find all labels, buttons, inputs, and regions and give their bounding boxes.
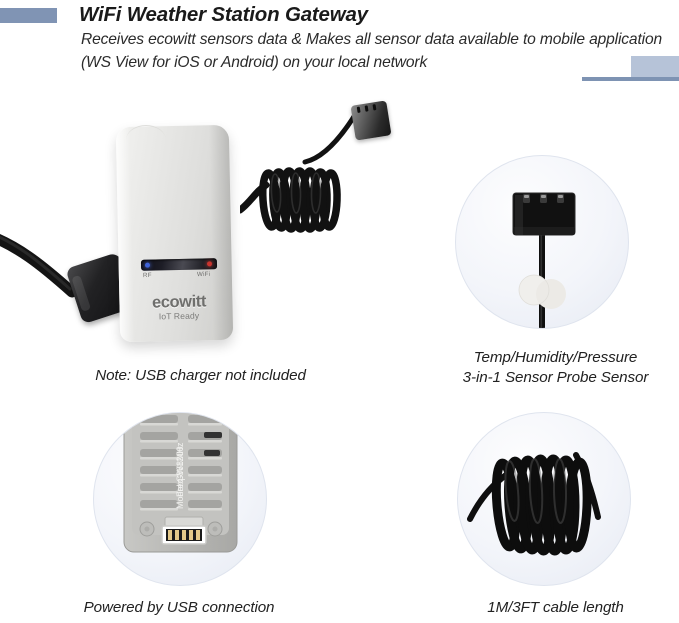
caption-line-2: 3-in-1 Sensor Probe Sensor (432, 368, 679, 388)
panel-usb-power-circle: Model:GW1200 Freq:868MHz (93, 412, 267, 586)
caption-line-1: Temp/Humidity/Pressure (432, 348, 679, 368)
panel-cable-length-circle (457, 412, 631, 586)
panel-sensor-probe-caption: Temp/Humidity/Pressure 3-in-1 Sensor Pro… (432, 348, 679, 387)
coiled-cable-illustration (458, 413, 630, 585)
header-accent-bar-left (0, 8, 57, 23)
page-subtitle: Receives ecowitt sensors data & Makes al… (81, 28, 666, 74)
hero-gateway-photo: RF WiFi ecowitt IoT Ready (0, 95, 430, 365)
panel-cable-length-caption: 1M/3FT cable length (432, 598, 679, 618)
header-accent-rule-right (582, 77, 679, 81)
wifi-led-label: WiFi (197, 271, 210, 278)
connector-pin (365, 105, 369, 111)
brand-tagline: IoT Ready (143, 310, 215, 322)
product-infographic: WiFi Weather Station Gateway Receives ec… (0, 0, 679, 623)
led-indicator-strip (141, 258, 217, 271)
device-back-illustration: Model:GW1200 Freq:868MHz (94, 413, 266, 585)
connector-pin (373, 104, 377, 110)
sensor-connector-block (350, 100, 391, 140)
rf-led-label: RF (143, 272, 152, 279)
device-frequency-label: Freq:868MHz (175, 442, 185, 497)
page-title: WiFi Weather Station Gateway (79, 2, 639, 28)
wifi-led-icon (207, 261, 212, 266)
rf-led-icon (145, 263, 150, 268)
connector-pin (357, 107, 361, 113)
panel-usb-power-caption: Powered by USB connection (55, 598, 303, 618)
panel-sensor-probe-circle (455, 155, 629, 329)
hero-caption: Note: USB charger not included (48, 366, 353, 386)
sensor-probe-illustration (456, 156, 628, 328)
